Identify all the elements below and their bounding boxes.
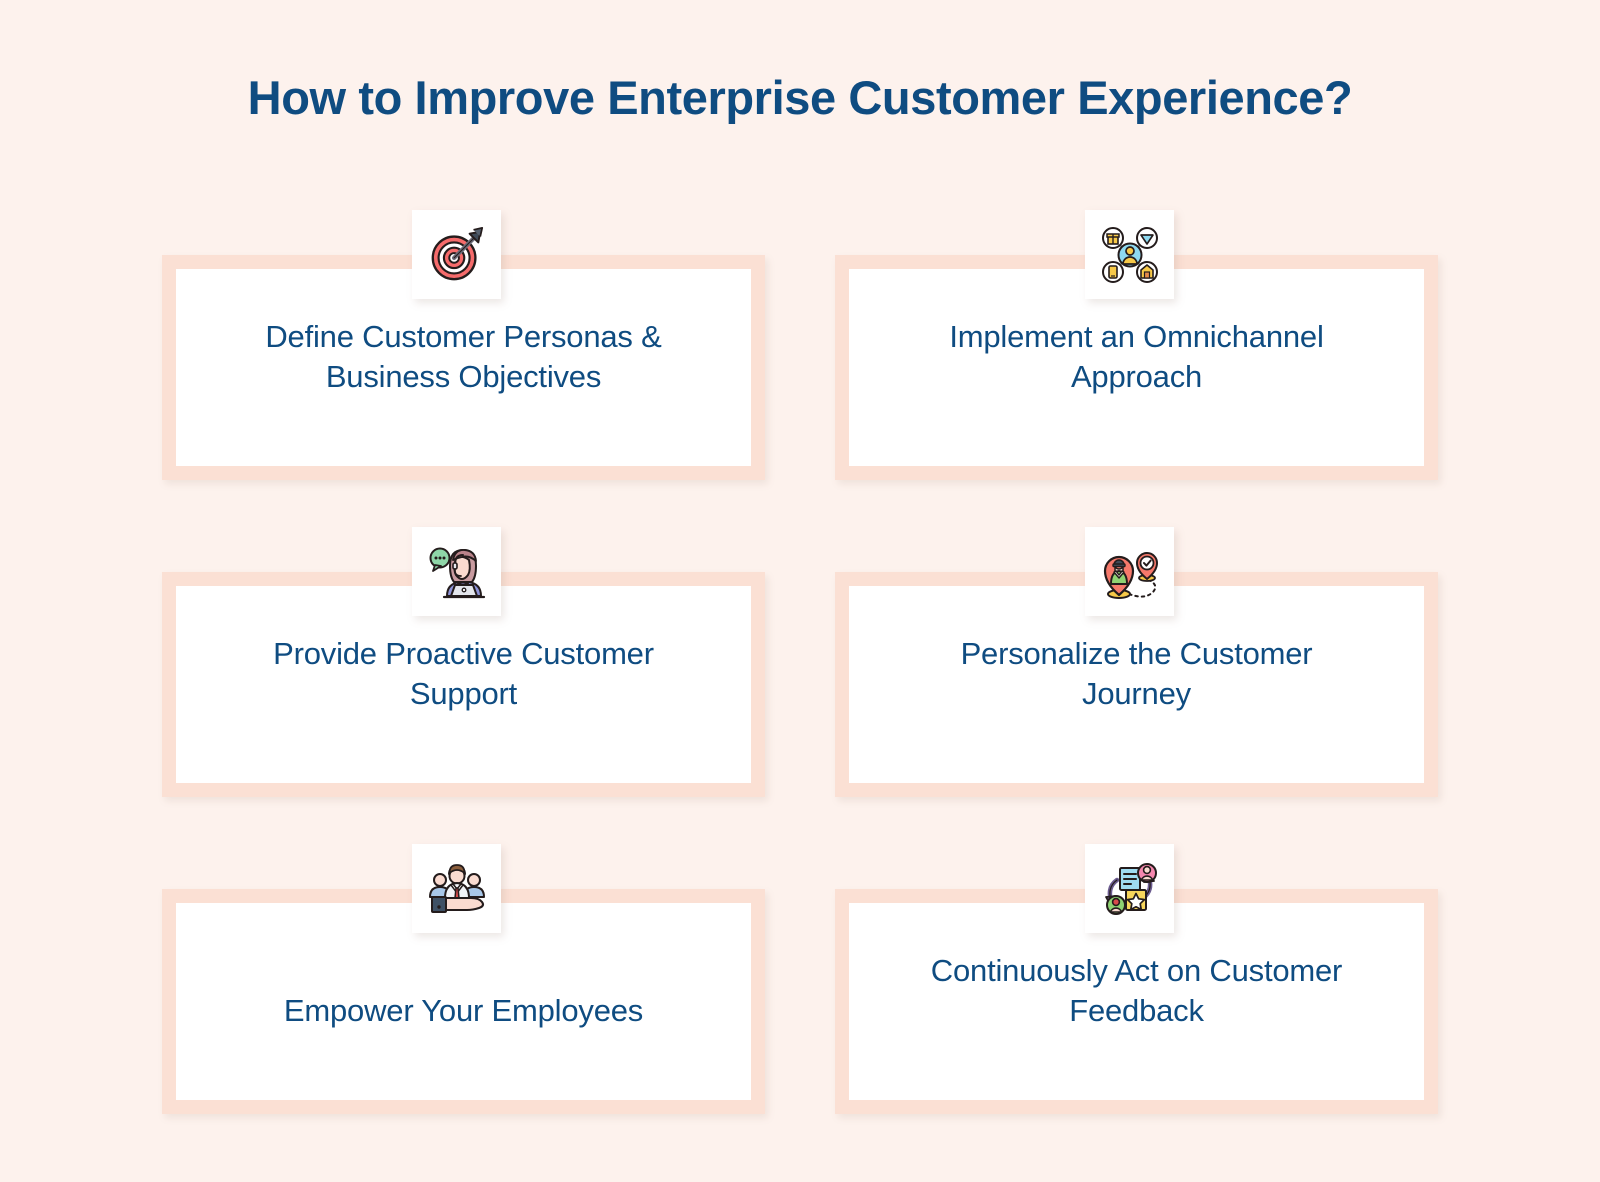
card-title-line-1: Implement an Omnichannel <box>949 319 1323 354</box>
card-title-line-1: Provide Proactive Customer <box>273 636 654 671</box>
card-title-line-1: Define Customer Personas & <box>265 319 661 354</box>
cards-grid: Define Customer Personas & Business Obje… <box>162 255 1438 1114</box>
omnichannel-network-icon <box>1085 210 1174 299</box>
card-title-line-2: Feedback <box>1069 993 1204 1028</box>
map-pin-journey-icon <box>1085 527 1174 616</box>
card-title-line-1: Empower Your Employees <box>284 993 643 1028</box>
card-empower-employees[interactable]: Empower Your Employees <box>162 889 765 1114</box>
card-act-on-feedback[interactable]: Continuously Act on Customer Feedback <box>835 889 1438 1114</box>
card-title-line-2: Business Objectives <box>326 359 601 394</box>
card-title: Empower Your Employees <box>204 991 723 1031</box>
card-title: Define Customer Personas & Business Obje… <box>204 317 723 397</box>
card-title: Continuously Act on Customer Feedback <box>877 951 1396 1031</box>
card-title-line-2: Approach <box>1071 359 1202 394</box>
card-personalize-journey[interactable]: Personalize the Customer Journey <box>835 572 1438 797</box>
card-title-line-1: Continuously Act on Customer <box>931 953 1342 988</box>
card-title-line-2: Journey <box>1082 676 1191 711</box>
card-title: Personalize the Customer Journey <box>877 634 1396 714</box>
card-title-line-1: Personalize the Customer <box>961 636 1313 671</box>
target-arrow-icon <box>412 210 501 299</box>
card-title: Provide Proactive Customer Support <box>204 634 723 714</box>
support-agent-headset-icon <box>412 527 501 616</box>
card-title: Implement an Omnichannel Approach <box>877 317 1396 397</box>
card-define-customer-personas[interactable]: Define Customer Personas & Business Obje… <box>162 255 765 480</box>
card-implement-omnichannel[interactable]: Implement an Omnichannel Approach <box>835 255 1438 480</box>
card-proactive-support[interactable]: Provide Proactive Customer Support <box>162 572 765 797</box>
page-title: How to Improve Enterprise Customer Exper… <box>0 70 1600 125</box>
infographic-page: How to Improve Enterprise Customer Exper… <box>0 0 1600 1182</box>
feedback-loop-icon <box>1085 844 1174 933</box>
card-title-line-2: Support <box>410 676 517 711</box>
hand-holding-team-icon <box>412 844 501 933</box>
